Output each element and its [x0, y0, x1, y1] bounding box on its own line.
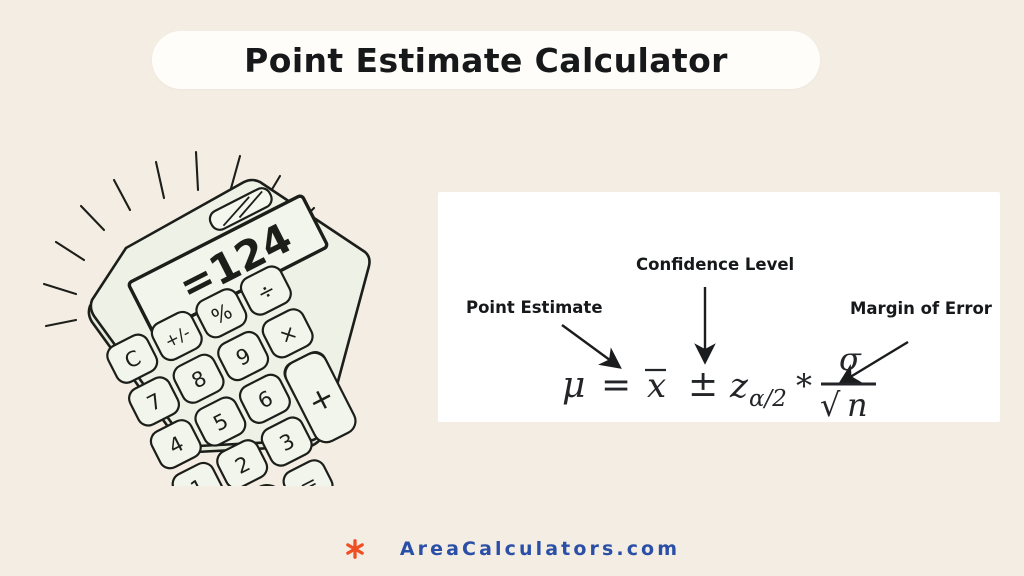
- formula-card: Point Estimate Confidence Level Margin o…: [438, 192, 1000, 422]
- footer: AreaCalculators.com: [0, 538, 1024, 560]
- formula-expression: μ = x ± z α/2 * σ √ n: [562, 340, 876, 422]
- page-title: Point Estimate Calculator: [244, 41, 728, 80]
- label-point-estimate: Point Estimate: [466, 298, 603, 317]
- formula-times: *: [796, 367, 812, 405]
- formula-z: z: [729, 366, 749, 406]
- label-confidence-level: Confidence Level: [636, 255, 794, 274]
- formula-xbar: x: [647, 366, 666, 406]
- calculator-illustration: =124 C +/- % ÷ 7 8: [28, 136, 388, 486]
- asterisk-icon: [344, 538, 366, 560]
- footer-brand[interactable]: AreaCalculators.com: [400, 538, 680, 560]
- page-root: { "page": { "background_color": "#F4EDE4…: [0, 0, 1024, 576]
- label-margin-of-error: Margin of Error: [850, 299, 993, 318]
- page-title-pill: Point Estimate Calculator: [152, 31, 820, 89]
- formula-z-subscript: α/2: [749, 386, 787, 412]
- arrow-point-estimate: [562, 325, 618, 366]
- formula-radical: √: [820, 386, 841, 422]
- formula-n: n: [847, 386, 868, 422]
- formula-plusminus: ±: [688, 364, 718, 405]
- formula-mu: μ: [562, 365, 585, 406]
- formula-equals: =: [601, 365, 631, 406]
- formula-sigma: σ: [839, 340, 862, 378]
